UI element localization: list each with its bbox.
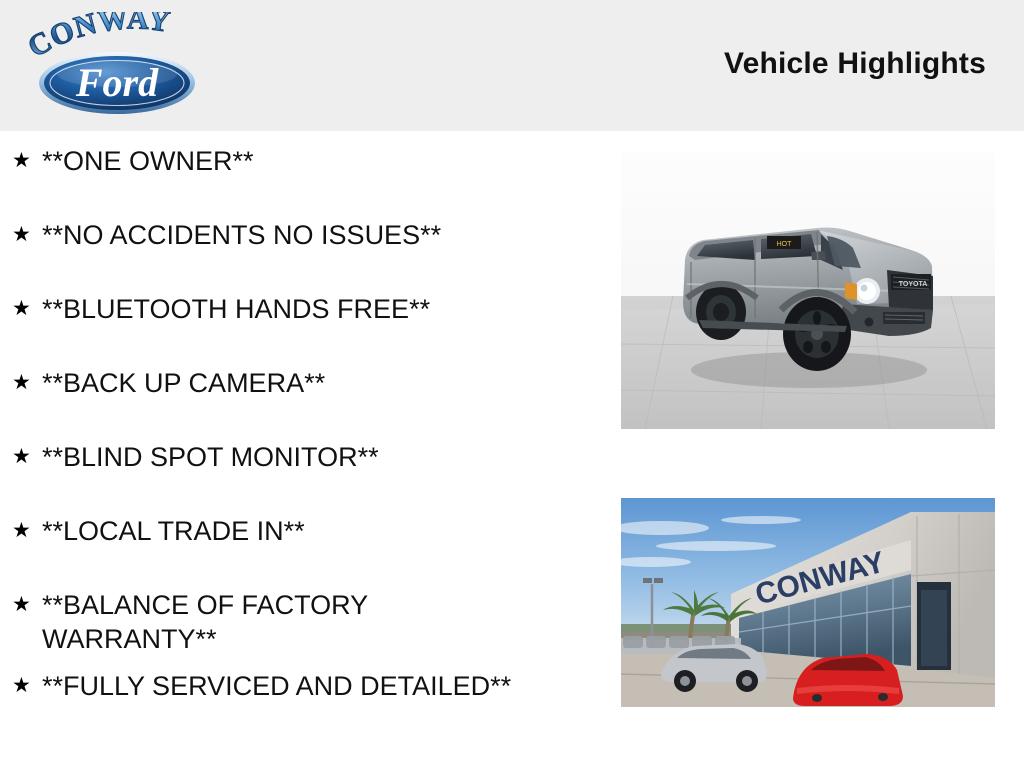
list-item: ★ **BACK UP CAMERA** (0, 353, 600, 427)
list-item-label: **NO ACCIDENTS NO ISSUES** (42, 205, 600, 252)
dealership-photo-graphic: CONWAY (621, 498, 995, 707)
svg-text:Ford: Ford (75, 60, 159, 105)
list-item: ★ **FULLY SERVICED AND DETAILED** (0, 656, 600, 730)
star-icon: ★ (12, 575, 42, 622)
star-icon: ★ (12, 279, 42, 326)
star-icon: ★ (12, 501, 42, 548)
vehicle-highlights-list: ★ **ONE OWNER** ★ **NO ACCIDENTS NO ISSU… (0, 131, 600, 730)
vehicle-photo[interactable]: HOT TOYOTA (621, 152, 995, 429)
page-title: Vehicle Highlights (724, 47, 986, 81)
list-item: ★ **LOCAL TRADE IN** (0, 501, 600, 575)
list-item-label: **BLIND SPOT MONITOR** (42, 427, 600, 474)
star-icon: ★ (12, 131, 42, 178)
list-item: ★ **ONE OWNER** (0, 131, 600, 205)
list-item-label: **LOCAL TRADE IN** (42, 501, 600, 548)
star-icon: ★ (12, 353, 42, 400)
conway-ford-logo-graphic: CONWAY Ford (22, 12, 212, 120)
star-icon: ★ (12, 656, 42, 703)
list-item-label: **BLUETOOTH HANDS FREE** (42, 279, 600, 326)
list-item: ★ **BLUETOOTH HANDS FREE** (0, 279, 600, 353)
list-item: ★ **BALANCE OF FACTORY WARRANTY** (0, 575, 600, 656)
svg-text:HOT: HOT (777, 241, 793, 248)
list-item-label: **ONE OWNER** (42, 131, 600, 178)
list-item: ★ **BLIND SPOT MONITOR** (0, 427, 600, 501)
star-icon: ★ (12, 427, 42, 474)
svg-text:TOYOTA: TOYOTA (899, 281, 928, 288)
list-item-label: **FULLY SERVICED AND DETAILED** (42, 656, 600, 703)
list-item-label: **BACK UP CAMERA** (42, 353, 600, 400)
list-item-label: **BALANCE OF FACTORY WARRANTY** (42, 575, 600, 656)
star-icon: ★ (12, 205, 42, 252)
list-item: ★ **NO ACCIDENTS NO ISSUES** (0, 205, 600, 279)
conway-ford-logo: CONWAY Ford (22, 12, 212, 120)
dealership-photo[interactable]: CONWAY (621, 498, 995, 707)
vehicle-photo-graphic: HOT TOYOTA (621, 152, 995, 429)
